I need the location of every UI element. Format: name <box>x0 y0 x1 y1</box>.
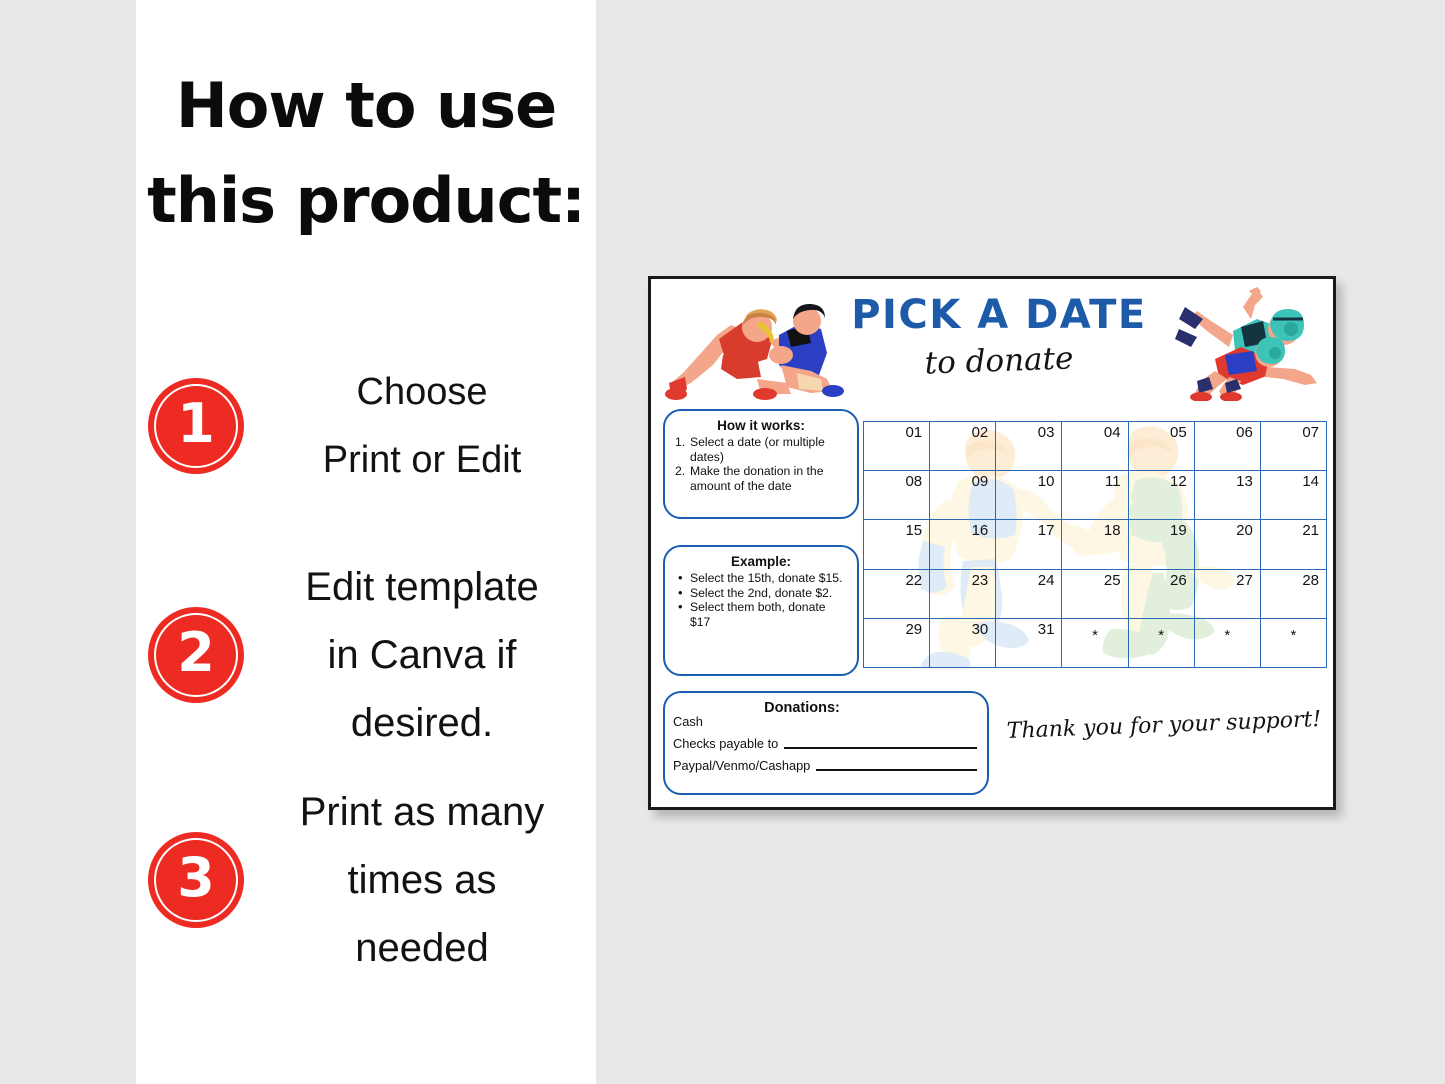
card-title-block: Pick a Date to donate <box>839 291 1159 381</box>
calendar-cell[interactable]: 11 <box>1062 471 1128 520</box>
step-item-2: 2 Edit template in Canva if desired. <box>136 560 596 750</box>
step-badge-3: 3 <box>148 832 244 928</box>
calendar-cell[interactable]: 05 <box>1128 422 1194 471</box>
thank-you-message: Thank you for your support! <box>999 705 1330 748</box>
donation-label: Cash <box>673 714 703 729</box>
calendar-cell[interactable]: 10 <box>996 471 1062 520</box>
calendar-cell[interactable]: 07 <box>1260 422 1326 471</box>
donation-label: Checks payable to <box>673 736 778 751</box>
calendar-row: 15 16 17 18 19 20 21 <box>864 520 1327 569</box>
calendar-cell[interactable]: 02 <box>930 422 996 471</box>
calendar-cell[interactable]: 09 <box>930 471 996 520</box>
calendar-cell-placeholder[interactable]: * <box>1062 618 1128 667</box>
how-it-works-item: Make the donation in the amount of the d… <box>673 464 849 493</box>
calendar-cell[interactable]: 03 <box>996 422 1062 471</box>
calendar-cell[interactable]: 15 <box>864 520 930 569</box>
calendar-cell[interactable]: 29 <box>864 618 930 667</box>
step-badge-1: 1 <box>148 378 244 474</box>
calendar-grid-wrapper: 01 02 03 04 05 06 07 08 09 10 11 12 <box>863 421 1327 667</box>
calendar-cell-placeholder[interactable]: * <box>1194 618 1260 667</box>
calendar-cell[interactable]: 27 <box>1194 569 1260 618</box>
donation-line-digital: Paypal/Venmo/Cashapp <box>673 758 977 773</box>
step-item-3: 3 Print as many times as needed <box>136 780 596 980</box>
card-title-sub: to donate <box>838 335 1159 386</box>
card-header: Pick a Date to donate <box>651 279 1336 401</box>
calendar-cell[interactable]: 24 <box>996 569 1062 618</box>
calendar-cell[interactable]: 25 <box>1062 569 1128 618</box>
step-number-1: 1 <box>177 397 215 451</box>
calendar-cell[interactable]: 18 <box>1062 520 1128 569</box>
calendar-cell[interactable]: 13 <box>1194 471 1260 520</box>
example-item: Select the 15th, donate $15. <box>673 571 849 586</box>
step-number-3: 3 <box>177 851 215 905</box>
example-box: Example: Select the 15th, donate $15. Se… <box>663 545 859 676</box>
example-title: Example: <box>673 553 849 570</box>
calendar-grid[interactable]: 01 02 03 04 05 06 07 08 09 10 11 12 <box>863 421 1327 668</box>
calendar-cell[interactable]: 16 <box>930 520 996 569</box>
calendar-cell[interactable]: 08 <box>864 471 930 520</box>
example-list: Select the 15th, donate $15. Select the … <box>673 571 849 629</box>
calendar-cell[interactable]: 04 <box>1062 422 1128 471</box>
step-number-2: 2 <box>177 626 215 680</box>
write-in-rule[interactable] <box>784 747 977 749</box>
calendar-cell[interactable]: 20 <box>1194 520 1260 569</box>
how-it-works-item: Select a date (or multiple dates) <box>673 435 849 464</box>
how-it-works-list: Select a date (or multiple dates) Make t… <box>673 435 849 493</box>
calendar-cell[interactable]: 17 <box>996 520 1062 569</box>
step-text-3: Print as many times as needed <box>244 778 596 982</box>
step-text-1: Choose Print or Edit <box>244 358 596 494</box>
instructions-panel: How to use this product: 1 Choose Print … <box>136 0 596 1084</box>
write-in-rule[interactable] <box>816 769 977 771</box>
example-item: Select the 2nd, donate $2. <box>673 586 849 601</box>
step-text-2: Edit template in Canva if desired. <box>244 553 596 757</box>
donations-box: Donations: Cash Checks payable to Paypal… <box>663 691 989 795</box>
calendar-cell-placeholder[interactable]: * <box>1260 618 1326 667</box>
calendar-cell[interactable]: 28 <box>1260 569 1326 618</box>
calendar-cell[interactable]: 26 <box>1128 569 1194 618</box>
calendar-row: 01 02 03 04 05 06 07 <box>864 422 1327 471</box>
how-it-works-title: How it works: <box>673 417 849 434</box>
calendar-cell[interactable]: 23 <box>930 569 996 618</box>
calendar-cell-placeholder[interactable]: * <box>1128 618 1194 667</box>
screenshot-stage: How to use this product: 1 Choose Print … <box>0 0 1445 1084</box>
calendar-cell[interactable]: 14 <box>1260 471 1326 520</box>
how-it-works-box: How it works: Select a date (or multiple… <box>663 409 859 519</box>
calendar-cell[interactable]: 12 <box>1128 471 1194 520</box>
example-item: Select them both, donate $17 <box>673 600 849 629</box>
printable-card-preview: Pick a Date to donate <box>648 276 1336 810</box>
calendar-cell[interactable]: 21 <box>1260 520 1326 569</box>
donation-line-checks: Checks payable to <box>673 736 977 751</box>
calendar-cell[interactable]: 31 <box>996 618 1062 667</box>
calendar-cell[interactable]: 30 <box>930 618 996 667</box>
step-item-1: 1 Choose Print or Edit <box>136 366 596 486</box>
step-badge-2: 2 <box>148 607 244 703</box>
calendar-row: 08 09 10 11 12 13 14 <box>864 471 1327 520</box>
calendar-cell[interactable]: 22 <box>864 569 930 618</box>
card-title-main: Pick a Date <box>839 291 1159 339</box>
donation-label: Paypal/Venmo/Cashapp <box>673 758 810 773</box>
wrestlers-teal-red-throw-illustration <box>1171 285 1331 401</box>
calendar-cell[interactable]: 06 <box>1194 422 1260 471</box>
calendar-row: 29 30 31 * * * * <box>864 618 1327 667</box>
page-title: How to use this product: <box>136 58 596 248</box>
calendar-cell[interactable]: 19 <box>1128 520 1194 569</box>
wrestlers-red-blue-illustration <box>661 295 845 401</box>
calendar-cell[interactable]: 01 <box>864 422 930 471</box>
calendar-row: 22 23 24 25 26 27 28 <box>864 569 1327 618</box>
